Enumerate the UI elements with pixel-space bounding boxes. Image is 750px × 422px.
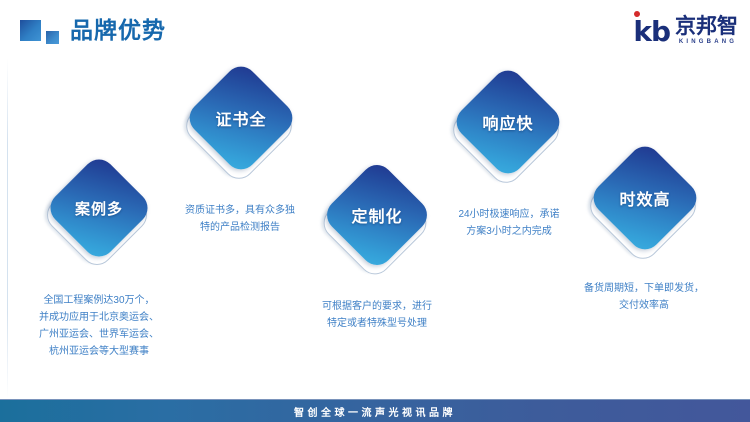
desc-line: 广州亚运会、世界军运会、 [26,326,172,343]
advantage-desc-2: 资质证书多，具有众多独 特的产品检测报告 [166,202,314,236]
diamond-shape-3: 定制化 [325,170,439,284]
advantage-title-1: 案例多 [60,169,138,247]
advantage-title-3: 定制化 [337,175,417,255]
diamond-shape-5: 时效高 [592,152,708,268]
diamond-face: 时效高 [587,140,703,256]
advantage-desc-5: 备货周期短，下单即发货， 交付效率高 [568,280,720,314]
footer-slogan: 智创全球一流声光视讯品牌 [294,404,456,419]
advantage-desc-4: 24小时极速响应，承诺 方案3小时之内完成 [435,206,583,240]
page-footer: 智创全球一流声光视讯品牌 [0,399,750,422]
advantage-title-4: 响应快 [467,81,549,163]
desc-line: 可根据客户的要求，进行 [303,298,451,315]
desc-line: 交付效率高 [568,297,720,314]
diamond-face: 证书全 [183,60,299,176]
desc-line: 特定或者特殊型号处理 [303,315,451,332]
advantage-title-2: 证书全 [200,77,282,159]
advantage-desc-1: 全国工程案例达30万个， 并成功应用于北京奥运会、 广州亚运会、世界军运会、 杭… [26,292,172,360]
desc-line: 全国工程案例达30万个， [26,292,172,309]
diamond-shape-1: 案例多 [48,164,158,274]
desc-line: 杭州亚运会等大型赛事 [26,343,172,360]
desc-line: 资质证书多，具有众多独 [166,202,314,219]
diamond-shape-2: 证书全 [188,72,304,188]
diamond-face: 响应快 [450,64,566,180]
advantages-diagram: 案例多 全国工程案例达30万个， 并成功应用于北京奥运会、 广州亚运会、世界军运… [0,0,750,400]
diamond-face: 定制化 [320,158,433,271]
desc-line: 方案3小时之内完成 [435,223,583,240]
advantage-title-5: 时效高 [604,157,686,239]
diamond-face: 案例多 [44,153,154,263]
desc-line: 备货周期短，下单即发货， [568,280,720,297]
diamond-shape-4: 响应快 [455,76,571,192]
advantage-desc-3: 可根据客户的要求，进行 特定或者特殊型号处理 [303,298,451,332]
desc-line: 24小时极速响应，承诺 [435,206,583,223]
desc-line: 并成功应用于北京奥运会、 [26,309,172,326]
desc-line: 特的产品检测报告 [166,219,314,236]
